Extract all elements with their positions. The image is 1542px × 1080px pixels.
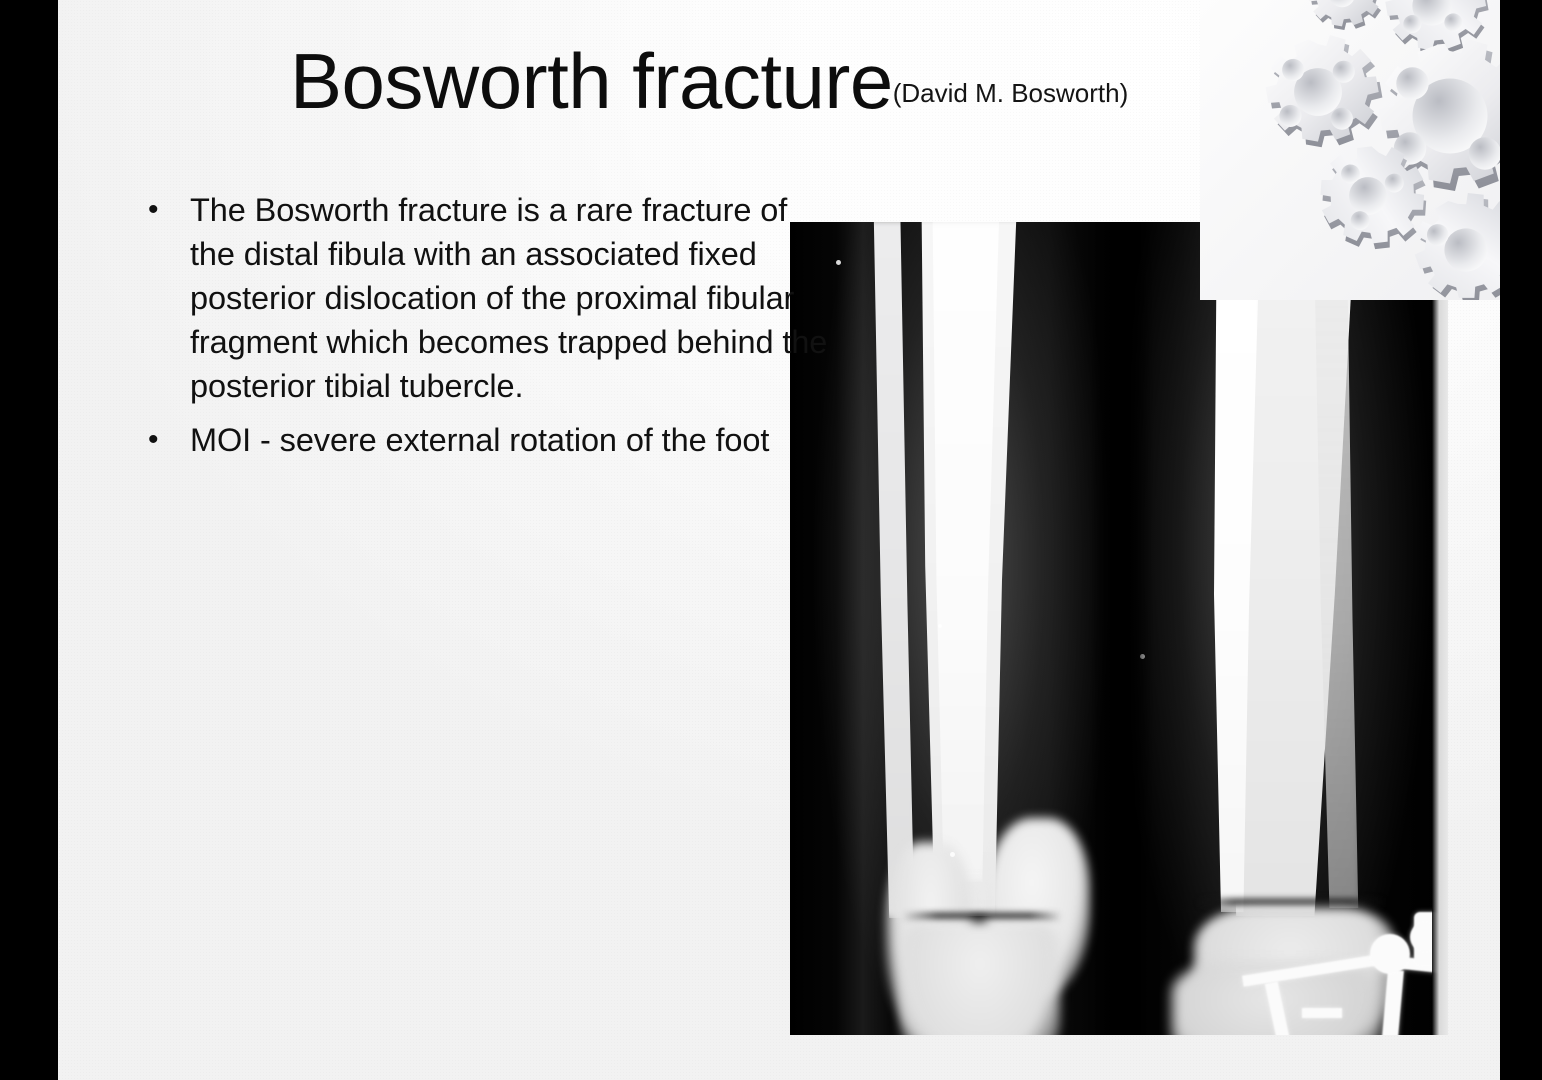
film-edge-strip bbox=[1432, 222, 1448, 1035]
ankle-joint-line bbox=[902, 912, 1062, 921]
bullet-list: • The Bosworth fracture is a rare fractu… bbox=[138, 188, 838, 472]
title-line: Bosworth fracture(David M. Bosworth) bbox=[290, 36, 1270, 127]
gear-icon bbox=[1385, 0, 1488, 54]
xray-figure bbox=[790, 222, 1448, 1035]
list-item: • The Bosworth fracture is a rare fractu… bbox=[138, 188, 838, 408]
letterbox-bar-right bbox=[1500, 0, 1542, 1080]
title-subtitle-text: (David M. Bosworth) bbox=[893, 78, 1129, 108]
external-fixator-clamp bbox=[1370, 934, 1410, 974]
bullet-text: The Bosworth fracture is a rare fracture… bbox=[190, 188, 838, 408]
gear-icon bbox=[1266, 35, 1383, 147]
film-artifact bbox=[1140, 654, 1145, 659]
film-artifact bbox=[938, 624, 942, 628]
title-main-text: Bosworth fracture bbox=[290, 37, 893, 125]
bullet-marker-icon: • bbox=[138, 188, 190, 232]
lateral-ankle-radiograph bbox=[1122, 222, 1448, 1035]
gear-icon bbox=[1308, 0, 1384, 30]
slide-root: Bosworth fracture(David M. Bosworth) • T… bbox=[0, 0, 1542, 1080]
ankle-joint-line bbox=[1196, 898, 1386, 907]
gear-icon bbox=[1379, 39, 1500, 192]
talus bbox=[900, 922, 1060, 1035]
ap-ankle-radiograph bbox=[790, 222, 1122, 1035]
page-title: Bosworth fracture(David M. Bosworth) bbox=[290, 36, 1270, 127]
slide-canvas: Bosworth fracture(David M. Bosworth) • T… bbox=[58, 0, 1500, 1080]
film-artifact bbox=[1380, 278, 1385, 285]
letterbox-bar-left bbox=[0, 0, 58, 1080]
bullet-marker-icon: • bbox=[138, 418, 190, 462]
external-fixator-pin bbox=[1302, 1008, 1342, 1018]
bullet-text: MOI - severe external rotation of the fo… bbox=[190, 418, 838, 462]
film-artifact bbox=[950, 852, 955, 857]
list-item: • MOI - severe external rotation of the … bbox=[138, 418, 838, 462]
